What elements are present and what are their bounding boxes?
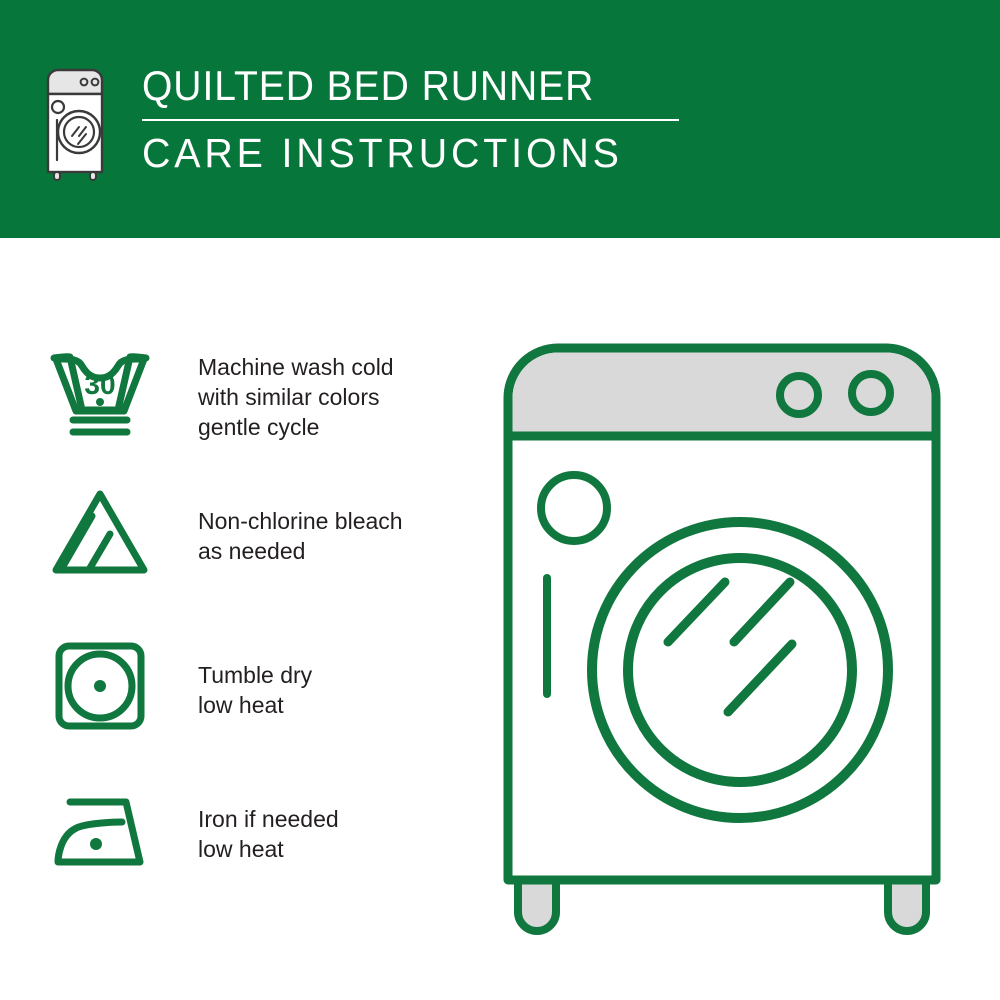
care-instruction-list: 30 Machine wash cold with similar colors…	[0, 238, 470, 1000]
page-subtitle: CARE INSTRUCTIONS	[142, 129, 658, 177]
tumble-dry-low-heat-icon	[48, 640, 152, 732]
care-row: Non-chlorine bleach as needed	[48, 486, 403, 578]
care-instruction-text: Iron if needed low heat	[198, 786, 339, 864]
iron-low-heat-icon	[48, 792, 152, 872]
care-instruction-text: Non-chlorine bleach as needed	[198, 486, 403, 566]
header-title-block: QUILTED BED RUNNER CARE INSTRUCTIONS	[142, 62, 679, 177]
care-row: Iron if needed low heat	[48, 786, 339, 872]
washing-machine-icon	[44, 66, 106, 184]
washer-leg-right	[888, 878, 926, 931]
washer-leg-left	[518, 878, 556, 931]
front-load-washing-machine-illustration	[490, 330, 970, 940]
washer-control-panel	[513, 353, 932, 435]
care-instruction-text: Machine wash cold with similar colors ge…	[198, 348, 394, 442]
wash-tub-30-gentle-icon: 30	[48, 348, 152, 440]
page-title: QUILTED BED RUNNER	[142, 62, 641, 110]
header-banner: QUILTED BED RUNNER CARE INSTRUCTIONS	[0, 0, 1000, 238]
care-row: 30 Machine wash cold with similar colors…	[48, 348, 394, 442]
care-instructions-infographic: QUILTED BED RUNNER CARE INSTRUCTIONS 30	[0, 0, 1000, 1000]
care-row: Tumble dry low heat	[48, 640, 312, 732]
header-content: QUILTED BED RUNNER CARE INSTRUCTIONS	[44, 62, 679, 184]
wash-temperature-label: 30	[84, 369, 115, 400]
care-instruction-text: Tumble dry low heat	[198, 640, 312, 720]
triangle-non-chlorine-bleach-icon	[48, 486, 152, 578]
title-divider	[142, 119, 679, 121]
